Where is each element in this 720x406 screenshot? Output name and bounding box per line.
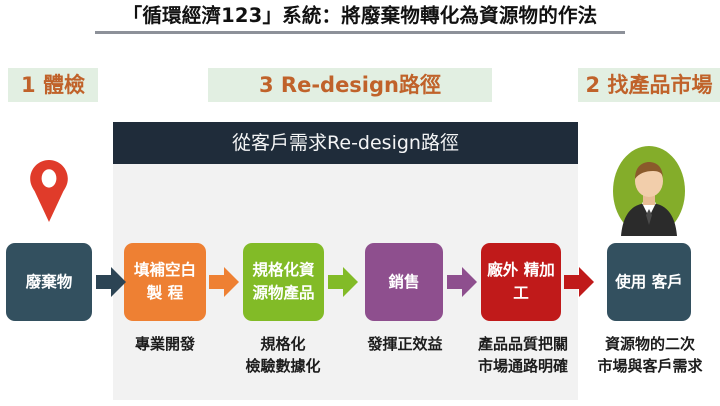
- caption-positive-benefit: 發揮正效益: [345, 333, 465, 355]
- caption-standardization-testing: 規格化 檢驗數據化: [222, 333, 344, 377]
- process-box-sales[interactable]: 銷售: [365, 243, 443, 321]
- page-title: 「循環經濟123」系統：將廢棄物轉化為資源物的作法: [0, 2, 720, 30]
- customer-avatar-icon: [607, 143, 691, 239]
- title-block: 「循環經濟123」系統：將廢棄物轉化為資源物的作法: [0, 2, 720, 34]
- process-box-label: 銷售: [369, 271, 439, 294]
- process-box-offsite-refining[interactable]: 廠外 精加工: [481, 243, 561, 321]
- process-box-label: 填補空白製 程: [128, 259, 202, 305]
- caption-quality-and-channel: 產品品質把關 市場通路明確: [465, 333, 581, 377]
- arrow-right-icon: [328, 266, 358, 298]
- arrow-right-icon: [447, 266, 477, 298]
- arrow-right-icon: [209, 266, 239, 298]
- caption-professional-development: 專業開發: [104, 333, 226, 355]
- caption-secondary-market-demand: 資源物的二次 市場與客戶需求: [588, 333, 712, 377]
- process-box-fill-gap-process[interactable]: 填補空白製 程: [124, 243, 206, 321]
- section-label-health-check: 1 體檢: [8, 68, 98, 102]
- redesign-panel-header-label: 從客戶需求Re-design路徑: [113, 122, 578, 164]
- title-underline: [95, 31, 625, 34]
- process-box-label: 廢棄物: [10, 271, 88, 294]
- map-pin-icon: [27, 160, 71, 222]
- arrow-right-icon: [96, 266, 126, 298]
- process-box-label: 廠外 精加工: [485, 259, 557, 305]
- process-box-standardized-resource-product[interactable]: 規格化資 源物產品: [243, 243, 324, 321]
- redesign-panel-header: 從客戶需求Re-design路徑: [113, 122, 578, 164]
- process-box-waste[interactable]: 廢棄物: [6, 243, 92, 321]
- arrow-right-icon: [564, 266, 594, 298]
- process-box-end-customer[interactable]: 使用 客戶: [607, 243, 691, 321]
- process-box-label: 使用 客戶: [611, 271, 687, 294]
- process-box-label: 規格化資 源物產品: [247, 259, 320, 305]
- section-label-find-market: 2 找產品市場: [578, 68, 720, 102]
- section-label-redesign-path: 3 Re-design路徑: [208, 68, 492, 102]
